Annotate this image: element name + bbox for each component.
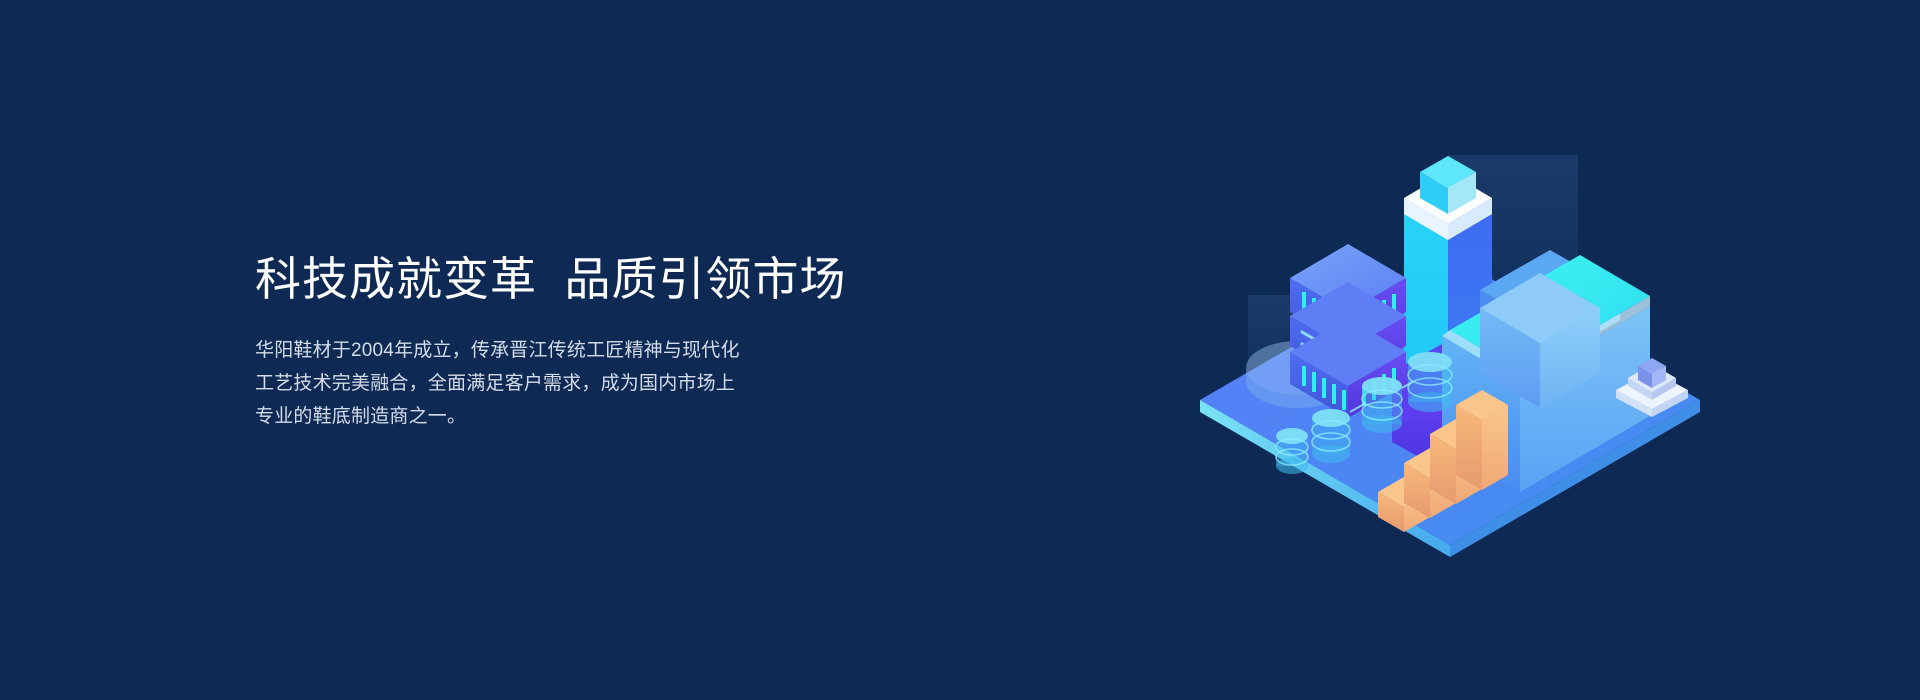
hero-description: 华阳鞋材于2004年成立，传承晋江传统工匠精神与现代化 工艺技术完美融合，全面满… xyxy=(255,308,875,433)
db-cylinder xyxy=(1312,409,1350,463)
hero-description-line: 工艺技术完美融合，全面满足客户需求，成为国内市场上 xyxy=(255,367,875,400)
bar-chart-bar xyxy=(1456,390,1508,490)
hero-banner: 科技成就变革 品质引领市场 华阳鞋材于2004年成立，传承晋江传统工匠精神与现代… xyxy=(0,0,1920,700)
db-cylinder xyxy=(1362,377,1402,433)
hero-description-line: 专业的鞋底制造商之一。 xyxy=(255,400,875,433)
hero-description-line: 华阳鞋材于2004年成立，传承晋江传统工匠精神与现代化 xyxy=(255,334,875,367)
hero-text-block: 科技成就变革 品质引领市场 华阳鞋材于2004年成立，传承晋江传统工匠精神与现代… xyxy=(255,250,1015,433)
db-cylinder xyxy=(1408,352,1452,412)
isometric-city-svg xyxy=(1180,100,1720,560)
page-title: 科技成就变革 品质引领市场 xyxy=(255,250,1015,308)
isometric-city-illustration xyxy=(1180,100,1720,560)
db-cylinder xyxy=(1276,428,1308,474)
